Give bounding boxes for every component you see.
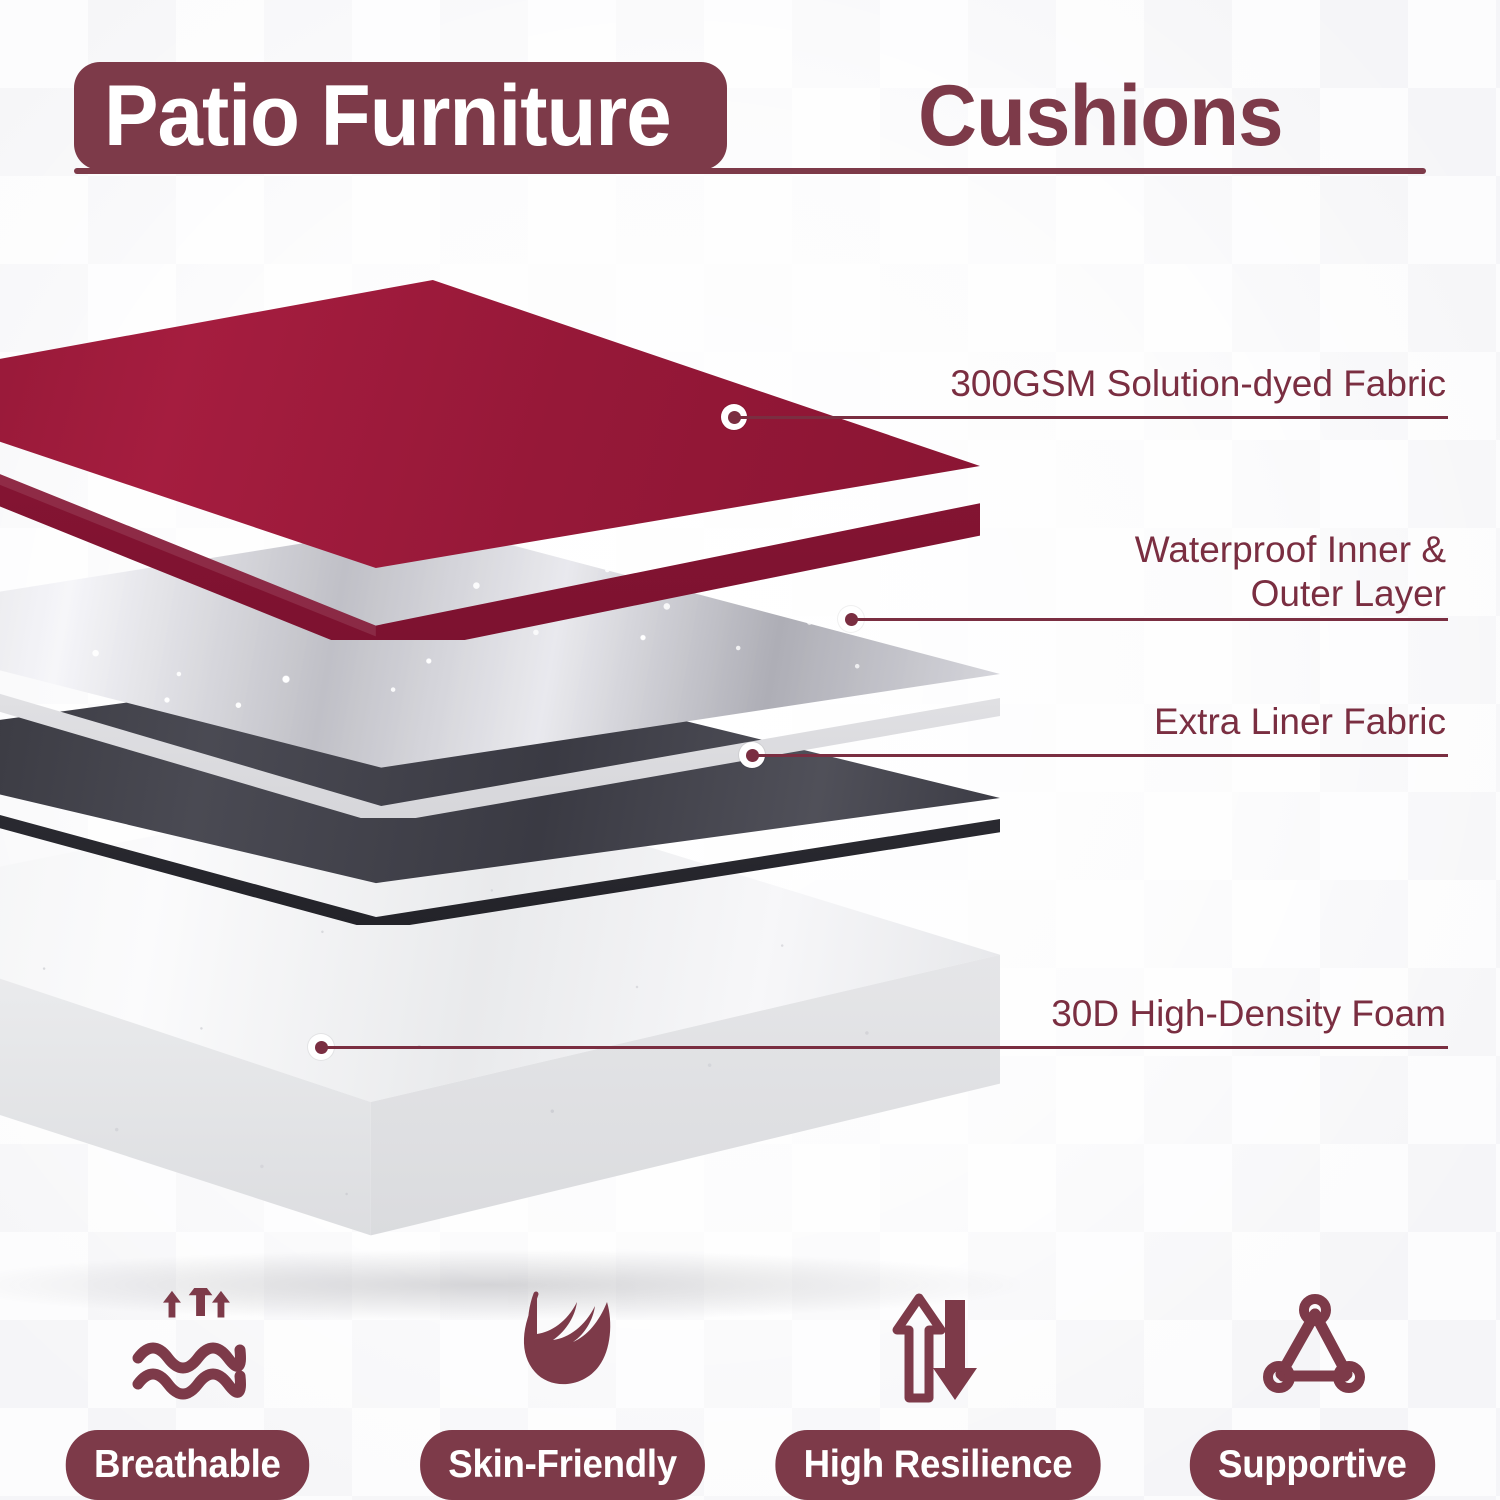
infographic-stage: Patio Furniture Cushions bbox=[0, 0, 1500, 1500]
callout-line-foam bbox=[327, 1046, 1448, 1049]
feature-badge-label-breathable[interactable]: Breathable bbox=[66, 1430, 309, 1500]
triangle-nodes-icon bbox=[1257, 1282, 1369, 1406]
page-title-highlight: Patio Furniture bbox=[104, 73, 671, 159]
title-highlight-pill: Patio Furniture bbox=[74, 62, 727, 170]
title-underline-rule bbox=[74, 168, 1426, 174]
feature-badge-label-supportive[interactable]: Supportive bbox=[1190, 1430, 1435, 1500]
callout-line-waterproof bbox=[857, 618, 1448, 621]
callout-label-foam: 30D High-Density Foam bbox=[748, 992, 1446, 1036]
feature-breathable[interactable]: Breathable bbox=[0, 1240, 375, 1500]
up-down-arrows-icon bbox=[883, 1282, 993, 1406]
breathable-waves-icon bbox=[128, 1282, 248, 1406]
feather-icon bbox=[501, 1282, 625, 1406]
callout-label-waterproof: Waterproof Inner & Outer Layer bbox=[748, 528, 1446, 615]
feature-badge-label-high-resilience[interactable]: High Resilience bbox=[775, 1430, 1100, 1500]
callout-line-liner bbox=[758, 754, 1448, 757]
header: Patio Furniture Cushions bbox=[0, 0, 1500, 190]
feature-high-resilience[interactable]: High Resilience bbox=[750, 1240, 1125, 1500]
callout-label-fabric: 300GSM Solution-dyed Fabric bbox=[748, 362, 1446, 406]
callout-label-liner: Extra Liner Fabric bbox=[748, 700, 1446, 744]
page-title-plain: Cushions bbox=[918, 73, 1283, 159]
feature-skin-friendly[interactable]: Skin-Friendly bbox=[375, 1240, 750, 1500]
feature-supportive[interactable]: Supportive bbox=[1125, 1240, 1500, 1500]
title-plain-wrap: Cushions bbox=[918, 62, 1302, 170]
feature-badge-label-skin-friendly[interactable]: Skin-Friendly bbox=[420, 1430, 705, 1500]
callout-line-fabric bbox=[740, 416, 1448, 419]
feature-badge-row: Breathable Skin-Friendly High Resilience bbox=[0, 1240, 1500, 1500]
